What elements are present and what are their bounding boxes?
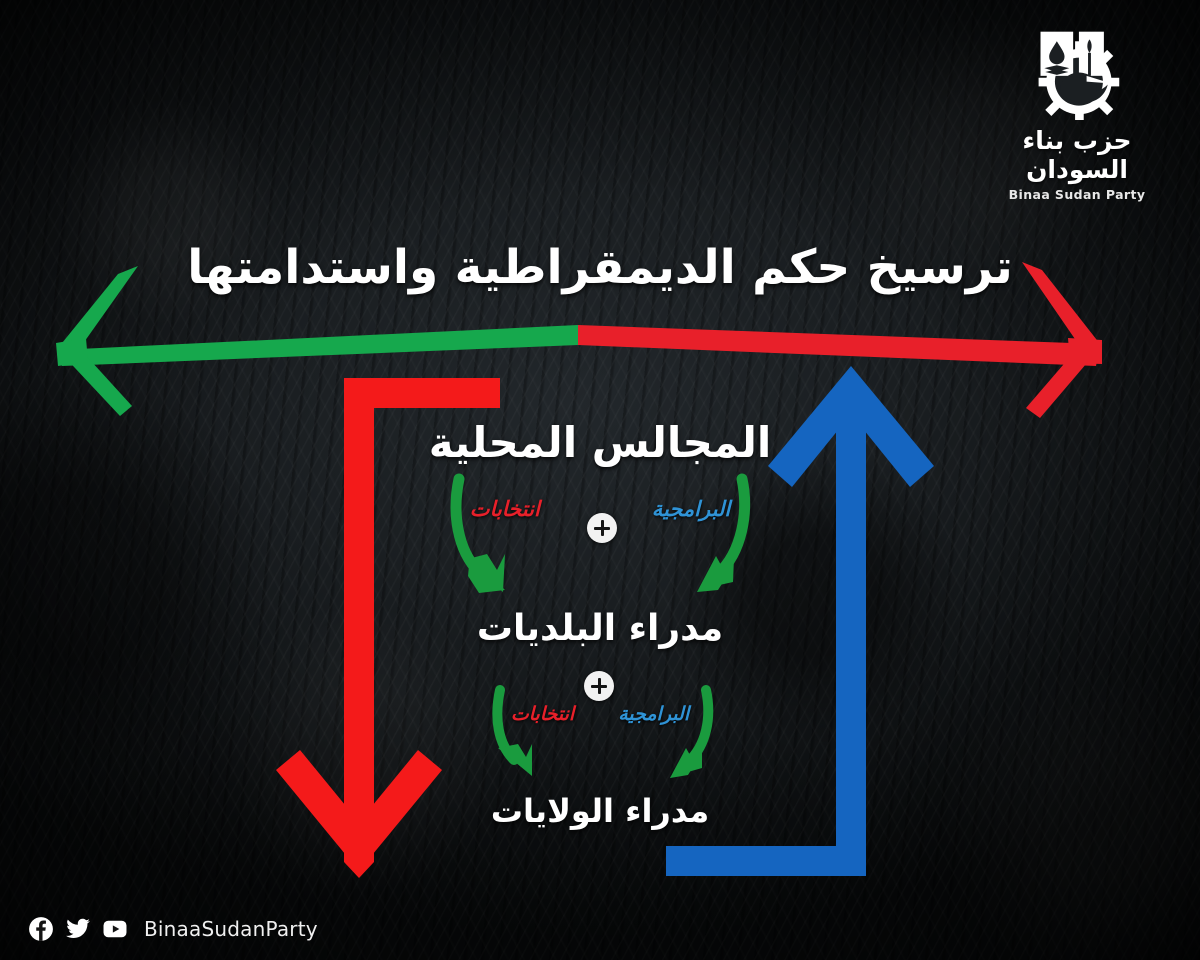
facebook-icon[interactable] xyxy=(28,916,54,942)
plus-icon xyxy=(587,513,617,543)
connector-elections-label: انتخابات xyxy=(470,497,540,521)
logo-english-name: Binaa Sudan Party xyxy=(982,187,1172,202)
connector-row-2: انتخابات البرامجية xyxy=(470,703,730,725)
hierarchy-level-municipality-directors: مدراء البلديات xyxy=(0,608,1200,649)
hierarchy-level-state-directors: مدراء الولايات xyxy=(0,792,1200,830)
gear-dove-book-emblem-icon xyxy=(1018,24,1136,120)
poster-canvas: ترسيخ حكم الديمقراطية واستدامتها المجالس… xyxy=(0,0,1200,960)
connector-elections-label: انتخابات xyxy=(511,703,574,725)
green-curved-arrow xyxy=(697,479,745,592)
youtube-icon[interactable] xyxy=(102,916,128,942)
plus-icon xyxy=(584,671,614,701)
logo-arabic-name: حزب بناء السودان xyxy=(982,126,1172,184)
connector-programmatic-label: البرامجية xyxy=(618,703,689,725)
page-title: ترسيخ حكم الديمقراطية واستدامتها xyxy=(0,240,1200,295)
twitter-icon[interactable] xyxy=(65,916,91,942)
social-handle: BinaaSudanParty xyxy=(144,917,318,941)
party-logo: حزب بناء السودان Binaa Sudan Party xyxy=(982,24,1172,202)
connector-programmatic-label: البرامجية xyxy=(652,497,730,521)
hierarchy-level-local-councils: المجالس المحلية xyxy=(0,418,1200,467)
social-footer: BinaaSudanParty xyxy=(28,916,318,942)
